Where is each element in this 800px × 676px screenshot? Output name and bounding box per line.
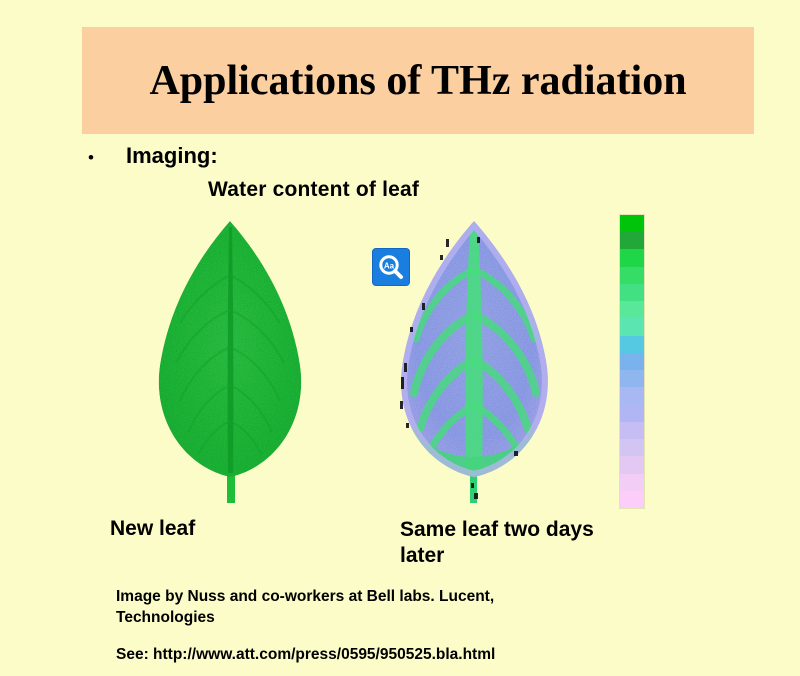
bullet-item-label: Imaging: bbox=[126, 143, 218, 169]
colorbar-band bbox=[620, 267, 644, 284]
colorbar-band bbox=[620, 336, 644, 353]
credit-block: Image by Nuss and co-workers at Bell lab… bbox=[116, 586, 636, 628]
colorbar-band bbox=[620, 249, 644, 266]
bullet-marker-icon: • bbox=[88, 149, 126, 166]
title-banner: Applications of THz radiation bbox=[82, 27, 754, 134]
slide-canvas: Applications of THz radiation • Imaging:… bbox=[0, 0, 800, 676]
colorbar-band bbox=[620, 284, 644, 301]
fresh-leaf-image bbox=[140, 215, 320, 505]
colorbar-band bbox=[620, 353, 644, 370]
colorbar-band bbox=[620, 474, 644, 491]
fresh-leaf-graphic bbox=[140, 215, 320, 505]
colorbar-legend bbox=[620, 215, 644, 508]
bullet-imaging-row: • Imaging: bbox=[88, 143, 218, 169]
figure-subheading: Water content of leaf bbox=[208, 178, 419, 202]
colorbar-band bbox=[620, 215, 644, 232]
colorbar-band bbox=[620, 439, 644, 456]
dry-leaf-graphic bbox=[382, 215, 567, 505]
svg-text:Aa: Aa bbox=[384, 262, 395, 271]
page-title: Applications of THz radiation bbox=[82, 27, 754, 134]
colorbar-band bbox=[620, 318, 644, 335]
colorbar-band bbox=[620, 301, 644, 318]
colorbar-band bbox=[620, 370, 644, 387]
magnifier-text-icon[interactable]: Aa bbox=[373, 249, 409, 285]
caption-same-leaf: Same leaf two days later bbox=[400, 517, 610, 569]
colorbar-band bbox=[620, 491, 644, 508]
caption-new-leaf: New leaf bbox=[110, 517, 195, 541]
source-url-line[interactable]: See: http://www.att.com/press/0595/95052… bbox=[116, 646, 495, 664]
colorbar-band bbox=[620, 405, 644, 422]
credit-line-2: Technologies bbox=[116, 607, 636, 628]
colorbar-band bbox=[620, 387, 644, 404]
credit-line-1: Image by Nuss and co-workers at Bell lab… bbox=[116, 586, 636, 607]
colorbar-band bbox=[620, 422, 644, 439]
colorbar-band bbox=[620, 232, 644, 249]
dry-leaf-image bbox=[382, 215, 567, 505]
colorbar-band bbox=[620, 456, 644, 473]
magnifier-glyph: Aa bbox=[377, 253, 405, 281]
